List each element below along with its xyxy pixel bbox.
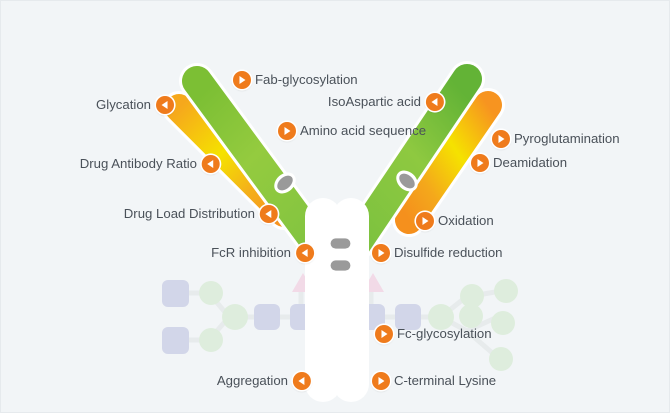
play-left-icon[interactable]	[426, 93, 444, 111]
play-right-icon[interactable]	[375, 325, 393, 343]
glycan-glcnac-square	[162, 327, 189, 354]
annotation-glycation[interactable]: Glycation	[96, 96, 174, 114]
glycan-left	[162, 273, 321, 354]
play-right-icon[interactable]	[492, 130, 510, 148]
glycan-mannose-circle	[491, 311, 515, 335]
play-left-icon[interactable]	[156, 96, 174, 114]
annotation-label: Disulfide reduction	[394, 246, 503, 259]
annotation-label: Drug Load Distribution	[124, 207, 255, 220]
play-left-icon[interactable]	[293, 372, 311, 390]
glycan-mannose-circle	[494, 279, 518, 303]
glycan-mannose-circle	[489, 347, 513, 371]
annotation-label: Drug Antibody Ratio	[80, 157, 197, 170]
play-left-icon[interactable]	[296, 244, 314, 262]
annotation-label: IsoAspartic acid	[328, 95, 421, 108]
figure-canvas: Fab-glycosylationGlycationIsoAspartic ac…	[0, 0, 670, 413]
annotation-drug-antibody-ratio[interactable]: Drug Antibody Ratio	[80, 155, 220, 173]
glycan-mannose-circle	[222, 304, 248, 330]
play-right-icon[interactable]	[372, 244, 390, 262]
annotation-amino-acid-sequence[interactable]: Amino acid sequence	[278, 122, 426, 140]
annotation-label: Fab-glycosylation	[255, 73, 358, 86]
annotation-fab-glycosylation[interactable]: Fab-glycosylation	[233, 71, 358, 89]
glycan-right	[351, 273, 518, 371]
glycan-glcnac-square	[254, 304, 280, 330]
annotation-label: Pyroglutamination	[514, 132, 620, 145]
annotation-disulfide-reduction[interactable]: Disulfide reduction	[372, 244, 503, 262]
play-left-icon[interactable]	[202, 155, 220, 173]
hinge-disulfide-upper	[328, 236, 353, 251]
annotation-pyroglutamination[interactable]: Pyroglutamination	[492, 130, 620, 148]
annotation-label: Amino acid sequence	[300, 124, 426, 137]
glycan-glcnac-square	[162, 280, 189, 307]
play-right-icon[interactable]	[471, 154, 489, 172]
play-left-icon[interactable]	[260, 205, 278, 223]
annotation-label: Fc-glycosylation	[397, 327, 492, 340]
glycan-mannose-circle	[199, 281, 223, 305]
annotation-deamidation[interactable]: Deamidation	[471, 154, 567, 172]
annotation-label: FcR inhibition	[211, 246, 291, 259]
play-right-icon[interactable]	[416, 212, 434, 230]
annotation-label: Glycation	[96, 98, 151, 111]
annotation-label: Deamidation	[493, 156, 567, 169]
annotation-aggregation[interactable]: Aggregation	[217, 372, 311, 390]
antibody-illustration	[1, 1, 670, 413]
play-right-icon[interactable]	[372, 372, 390, 390]
annotation-c-terminal-lysine[interactable]: C-terminal Lysine	[372, 372, 496, 390]
annotation-fc-glycosylation[interactable]: Fc-glycosylation	[375, 325, 492, 343]
hinge-disulfide-lower	[328, 258, 353, 273]
annotation-fcr-inhibition[interactable]: FcR inhibition	[211, 244, 314, 262]
annotation-label: Oxidation	[438, 214, 494, 227]
annotation-oxidation[interactable]: Oxidation	[416, 212, 494, 230]
annotation-label: Aggregation	[217, 374, 288, 387]
annotation-label: C-terminal Lysine	[394, 374, 496, 387]
annotation-drug-load-distribution[interactable]: Drug Load Distribution	[124, 205, 278, 223]
play-right-icon[interactable]	[233, 71, 251, 89]
glycan-mannose-circle	[199, 328, 223, 352]
play-right-icon[interactable]	[278, 122, 296, 140]
annotation-isoaspartic-acid[interactable]: IsoAspartic acid	[328, 93, 444, 111]
